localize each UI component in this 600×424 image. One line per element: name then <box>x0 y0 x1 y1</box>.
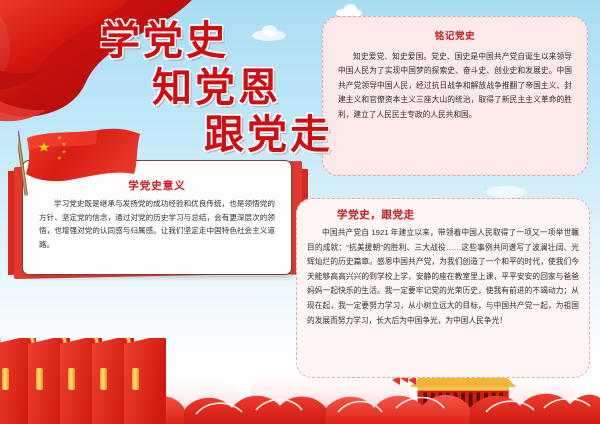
headline-line-3: 跟党走 <box>204 102 333 160</box>
panel-bottom-body: 中国共产党自 1921 年建立以来，带领着中国人民取得了一项又一项举世瞩目的成就… <box>307 226 579 328</box>
cloud-icon <box>486 186 526 198</box>
left-card-body: 学习党史既是继承与发扬党的成功经验和优良传统，也是领悟党的方针、坚定党的信念，通… <box>39 197 275 251</box>
poster-canvas: 学党史 知党恩 跟党走 学党史意义 学习党史既是继承与发扬党的成功经验和优良传统… <box>0 0 600 424</box>
page-title: 学党史 知党恩 跟党走 <box>0 6 348 166</box>
panel-top-body: 知史爱党、知史爱国。党史、国史是中国共产党自诞生以来领导中国人民为了实现中国梦的… <box>338 50 572 122</box>
panel-top-title: 铭记党史 <box>323 28 587 42</box>
panel-follow-the-party: 学党史，跟党走 中国共产党自 1921 年建立以来，带领着中国人民取得了一项又一… <box>296 198 590 378</box>
red-flag-row-icon <box>0 338 174 424</box>
panel-bottom-title: 学党史，跟党走 <box>297 207 589 222</box>
panel-remember-party-history: 铭记党史 知史爱党、知史爱国。党史、国史是中国共产党自诞生以来领导中国人民为了实… <box>322 16 588 176</box>
